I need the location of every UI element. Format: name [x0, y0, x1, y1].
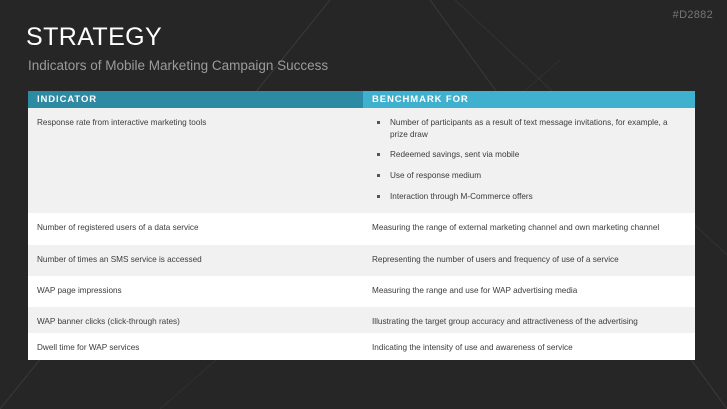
table-row: Dwell time for WAP services Indicating t… [28, 333, 695, 360]
table-row: WAP page impressions Measuring the range… [28, 276, 695, 307]
page-subtitle: Indicators of Mobile Marketing Campaign … [28, 59, 328, 73]
list-item: Number of participants as a result of te… [372, 117, 685, 140]
cell-benchmark: Representing the number of users and fre… [363, 245, 695, 276]
indicators-table: INDICATOR BENCHMARK FOR Response rate fr… [28, 91, 695, 360]
cell-indicator: WAP banner clicks (click-through rates) [28, 307, 363, 333]
benchmark-bullet-list: Number of participants as a result of te… [372, 117, 685, 202]
table-row: Response rate from interactive marketing… [28, 108, 695, 213]
cell-indicator: Number of times an SMS service is access… [28, 245, 363, 276]
slide-canvas: #D2882 STRATEGY Indicators of Mobile Mar… [0, 0, 727, 409]
table-row: Number of times an SMS service is access… [28, 245, 695, 276]
cell-indicator: Dwell time for WAP services [28, 333, 363, 360]
cell-benchmark: Measuring the range and use for WAP adve… [363, 276, 695, 307]
column-header-benchmark: BENCHMARK FOR [363, 91, 695, 108]
cell-benchmark: Measuring the range of external marketin… [363, 213, 695, 245]
list-item: Redeemed savings, sent via mobile [372, 149, 685, 161]
cell-indicator: Response rate from interactive marketing… [28, 108, 363, 213]
list-item: Interaction through M-Commerce offers [372, 191, 685, 203]
cell-indicator: Number of registered users of a data ser… [28, 213, 363, 245]
table-row: WAP banner clicks (click-through rates) … [28, 307, 695, 333]
cell-benchmark: Illustrating the target group accuracy a… [363, 307, 695, 333]
page-title: STRATEGY [26, 25, 162, 50]
slide-id-label: #D2882 [673, 9, 713, 21]
table-header-row: INDICATOR BENCHMARK FOR [28, 91, 695, 108]
cell-benchmark: Number of participants as a result of te… [363, 108, 695, 213]
cell-benchmark: Indicating the intensity of use and awar… [363, 333, 695, 360]
list-item: Use of response medium [372, 170, 685, 182]
column-header-indicator: INDICATOR [28, 91, 363, 108]
cell-indicator: WAP page impressions [28, 276, 363, 307]
table-row: Number of registered users of a data ser… [28, 213, 695, 245]
